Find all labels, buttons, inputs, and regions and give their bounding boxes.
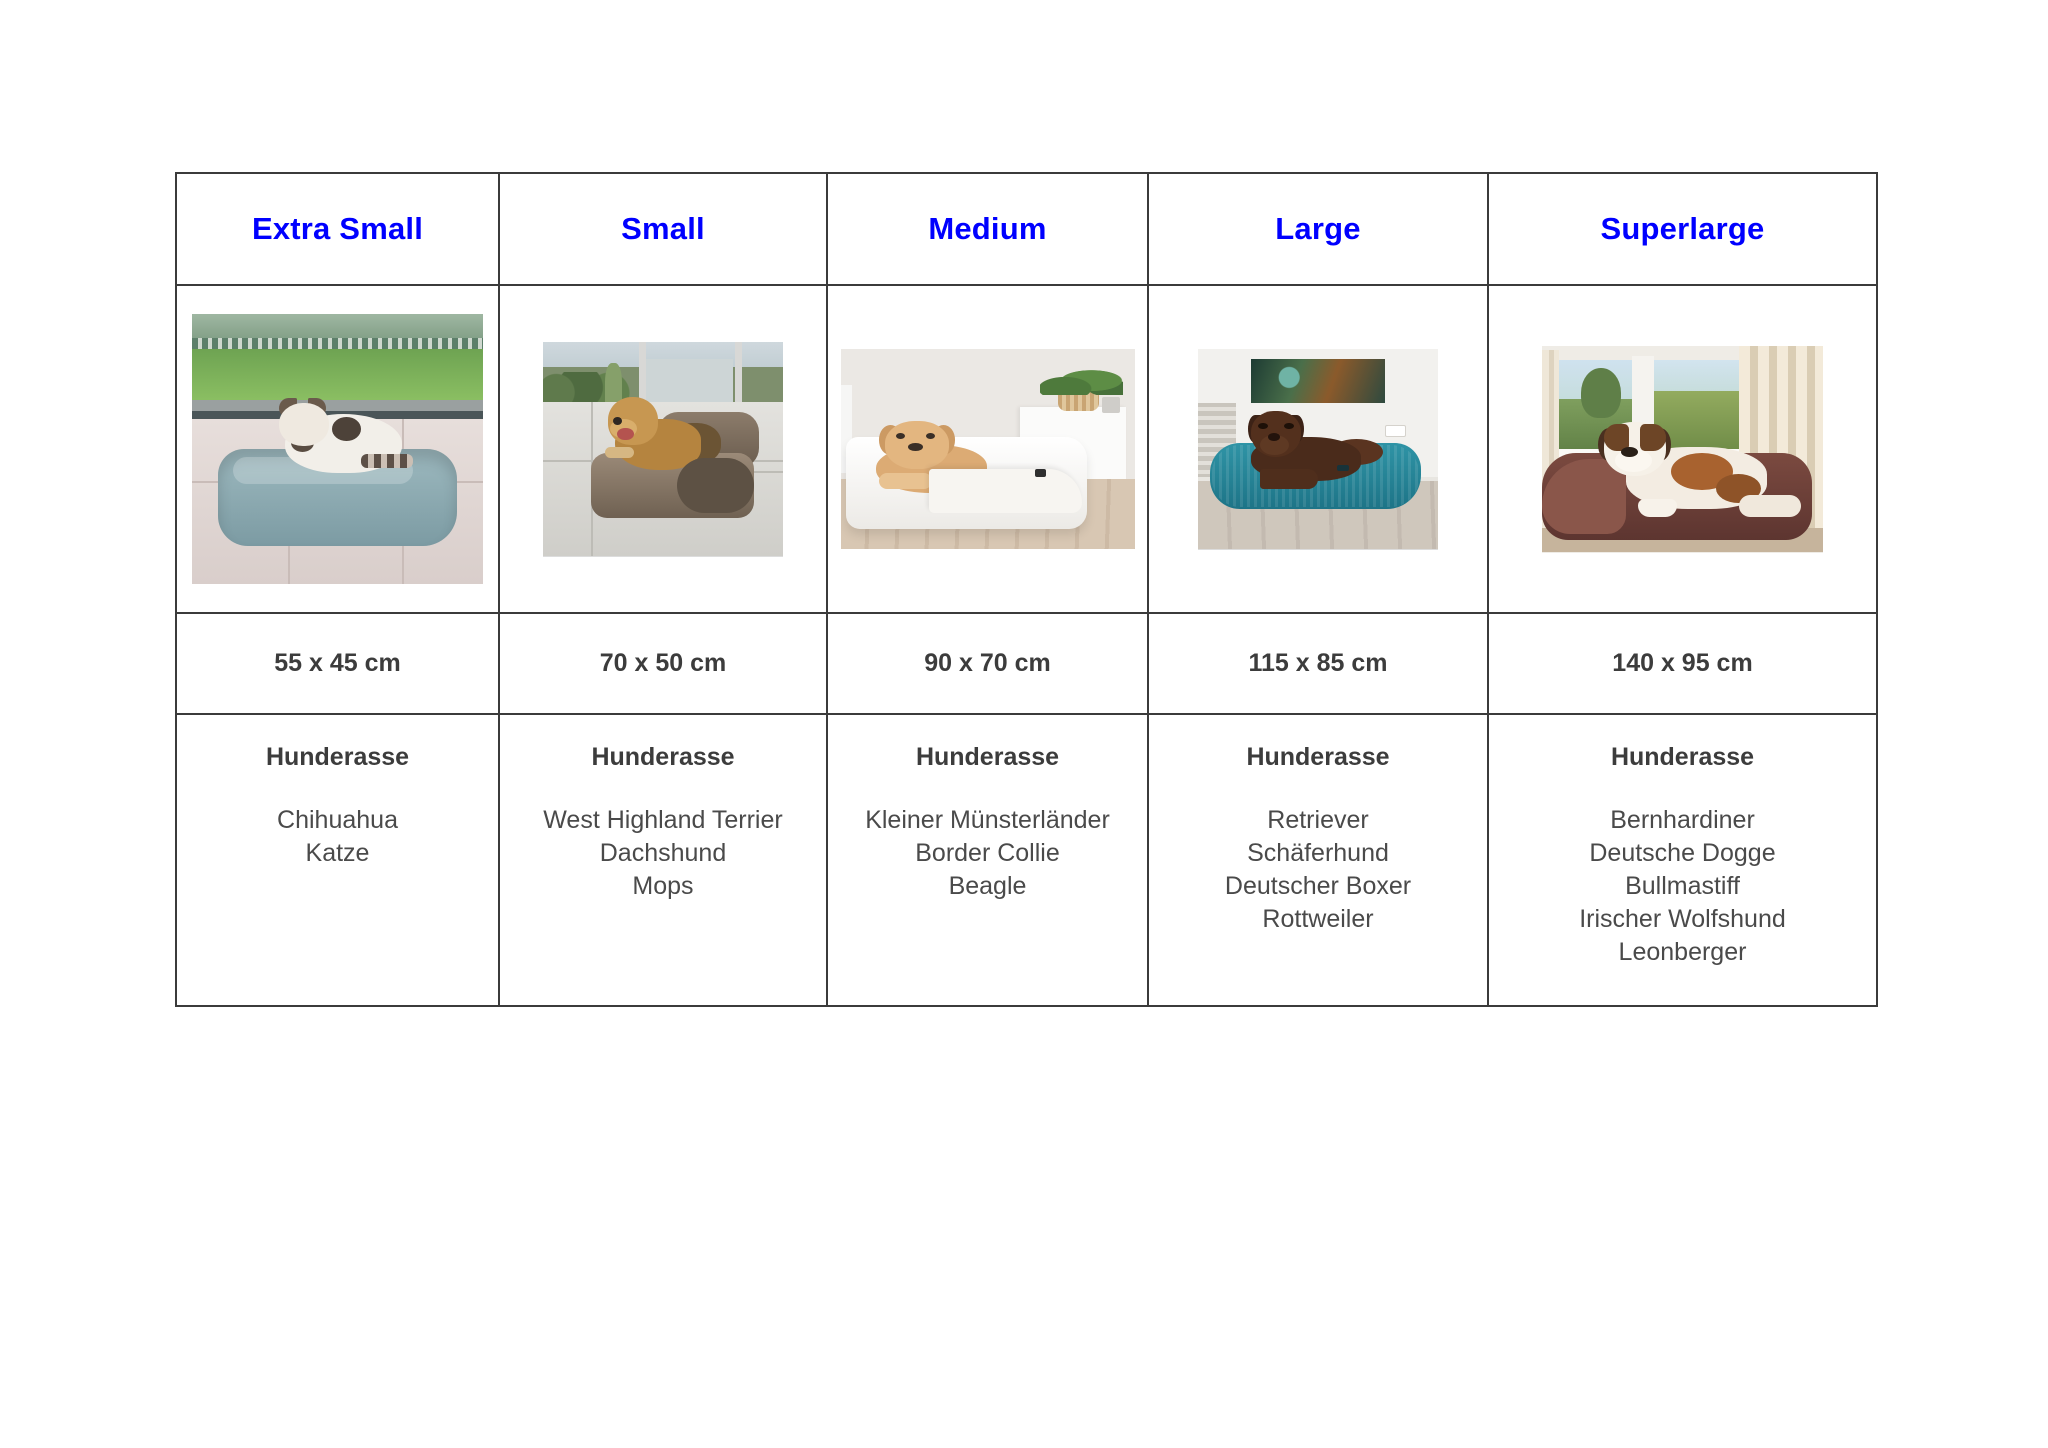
dimensions-label: 55 x 45 cm: [177, 649, 498, 678]
breed-item: Leonberger: [1489, 936, 1876, 969]
product-photo-large: [1198, 349, 1438, 550]
table-row-photos: [176, 285, 1877, 613]
product-photo-medium: [841, 349, 1135, 549]
dimensions-label: 115 x 85 cm: [1149, 649, 1487, 678]
table-row-size-names: Extra Small Small Medium Large Superlarg…: [176, 173, 1877, 285]
breed-item: Bullmastiff: [1489, 870, 1876, 903]
breed-item: Katze: [177, 837, 498, 870]
product-photo-extra-small: [192, 314, 483, 584]
breed-item: Deutsche Dogge: [1489, 837, 1876, 870]
cell-size-name-small: Small: [499, 173, 827, 285]
cell-photo-small: [499, 285, 827, 613]
breed-item: Mops: [500, 870, 826, 903]
cell-photo-medium: [827, 285, 1148, 613]
product-photo-small: [543, 342, 783, 557]
cell-breeds-extra-small: Hunderasse Chihuahua Katze: [176, 714, 499, 1006]
cell-size-name-medium: Medium: [827, 173, 1148, 285]
breed-item: West Highland Terrier: [500, 804, 826, 837]
breed-list: West Highland Terrier Dachshund Mops: [500, 804, 826, 903]
breed-item: Chihuahua: [177, 804, 498, 837]
cell-dimensions-large: 115 x 85 cm: [1148, 613, 1488, 714]
size-name-label: Extra Small: [177, 212, 498, 246]
breed-item: Bernhardiner: [1489, 804, 1876, 837]
table-row-dimensions: 55 x 45 cm 70 x 50 cm 90 x 70 cm 115 x 8…: [176, 613, 1877, 714]
breed-list: Bernhardiner Deutsche Dogge Bullmastiff …: [1489, 804, 1876, 969]
breed-item: Irischer Wolfshund: [1489, 903, 1876, 936]
cell-dimensions-superlarge: 140 x 95 cm: [1488, 613, 1877, 714]
cell-breeds-superlarge: Hunderasse Bernhardiner Deutsche Dogge B…: [1488, 714, 1877, 1006]
cell-photo-extra-small: [176, 285, 499, 613]
breed-heading: Hunderasse: [828, 743, 1147, 772]
dimensions-label: 140 x 95 cm: [1489, 649, 1876, 678]
cell-breeds-small: Hunderasse West Highland Terrier Dachshu…: [499, 714, 827, 1006]
breed-item: Rottweiler: [1149, 903, 1487, 936]
breed-list: Kleiner Münsterländer Border Collie Beag…: [828, 804, 1147, 903]
cell-breeds-large: Hunderasse Retriever Schäferhund Deutsch…: [1148, 714, 1488, 1006]
breed-heading: Hunderasse: [1149, 743, 1487, 772]
breed-item: Deutscher Boxer: [1149, 870, 1487, 903]
cell-dimensions-extra-small: 55 x 45 cm: [176, 613, 499, 714]
dimensions-label: 70 x 50 cm: [500, 649, 826, 678]
breed-list: Retriever Schäferhund Deutscher Boxer Ro…: [1149, 804, 1487, 936]
size-name-label: Large: [1149, 212, 1487, 246]
cell-size-name-extra-small: Extra Small: [176, 173, 499, 285]
breed-item: Schäferhund: [1149, 837, 1487, 870]
table-row-breeds: Hunderasse Chihuahua Katze Hunderasse We…: [176, 714, 1877, 1006]
product-photo-superlarge: [1542, 346, 1823, 553]
size-name-label: Medium: [828, 212, 1147, 246]
size-name-label: Superlarge: [1489, 212, 1876, 246]
breed-item: Border Collie: [828, 837, 1147, 870]
breed-heading: Hunderasse: [1489, 743, 1876, 772]
cell-photo-large: [1148, 285, 1488, 613]
cell-photo-superlarge: [1488, 285, 1877, 613]
dog-bed-size-table: Extra Small Small Medium Large Superlarg…: [175, 172, 1878, 1007]
breed-item: Beagle: [828, 870, 1147, 903]
cell-size-name-superlarge: Superlarge: [1488, 173, 1877, 285]
cell-breeds-medium: Hunderasse Kleiner Münsterländer Border …: [827, 714, 1148, 1006]
document-page: Extra Small Small Medium Large Superlarg…: [0, 0, 2048, 1448]
size-name-label: Small: [500, 212, 826, 246]
breed-item: Dachshund: [500, 837, 826, 870]
breed-item: Retriever: [1149, 804, 1487, 837]
breed-list: Chihuahua Katze: [177, 804, 498, 870]
dimensions-label: 90 x 70 cm: [828, 649, 1147, 678]
breed-item: Kleiner Münsterländer: [828, 804, 1147, 837]
breed-heading: Hunderasse: [177, 743, 498, 772]
cell-size-name-large: Large: [1148, 173, 1488, 285]
breed-heading: Hunderasse: [500, 743, 826, 772]
cell-dimensions-small: 70 x 50 cm: [499, 613, 827, 714]
cell-dimensions-medium: 90 x 70 cm: [827, 613, 1148, 714]
